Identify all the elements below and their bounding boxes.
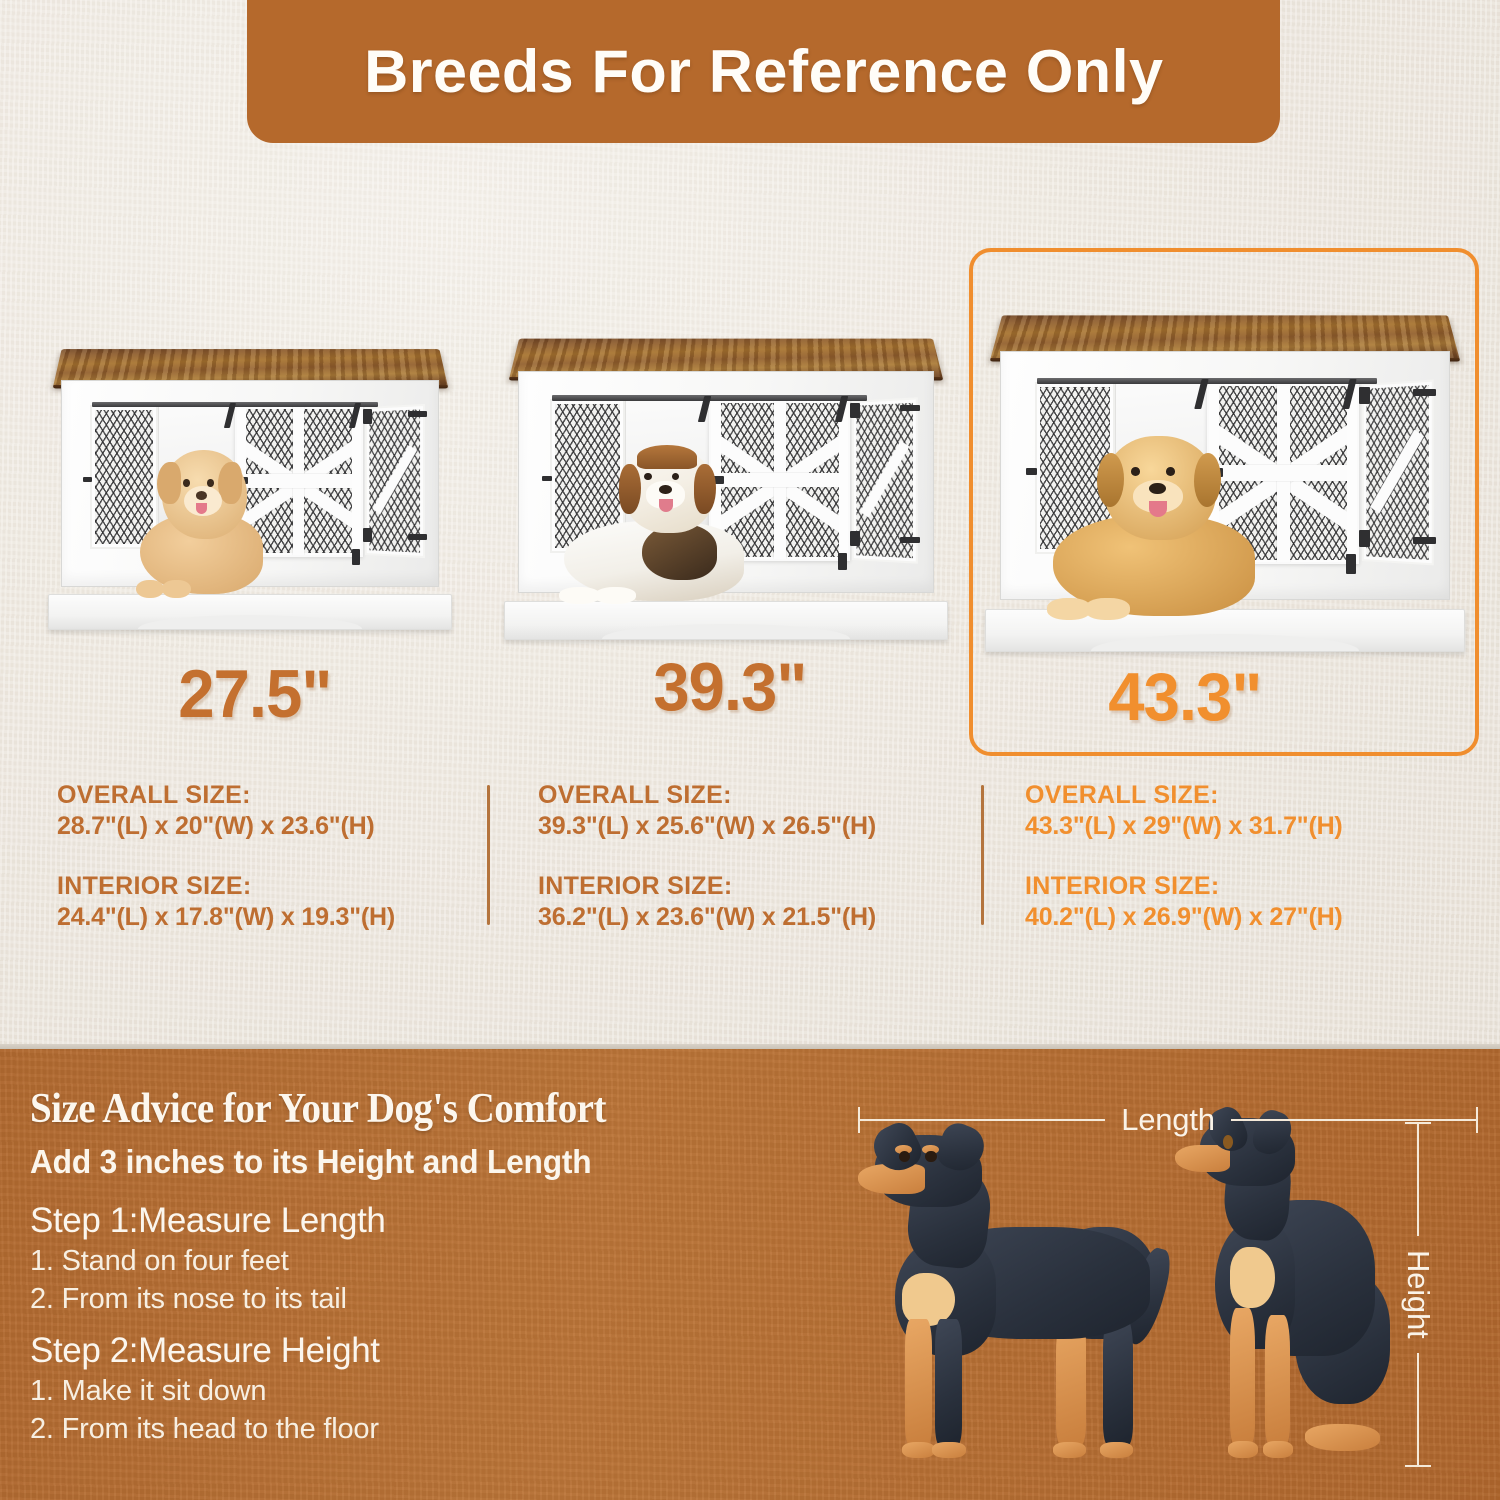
step-1-title: Step 1:Measure Length xyxy=(30,1200,385,1242)
step-2-title: Step 2:Measure Height xyxy=(30,1330,380,1372)
step-2-block: Step 2:Measure Height 1. Make it sit dow… xyxy=(30,1330,380,1449)
spec-divider xyxy=(487,785,490,925)
interior-size-heading: INTERIOR SIZE: xyxy=(57,871,487,902)
interior-size-value: 24.4"(L) x 17.8"(W) x 19.3"(H) xyxy=(57,902,487,933)
interior-size-heading: INTERIOR SIZE: xyxy=(538,871,968,902)
overall-size-value: 43.3"(L) x 29"(W) x 31.7"(H) xyxy=(1025,811,1455,842)
spec-divider xyxy=(981,785,984,925)
size-label-43-3: 43.3" xyxy=(1108,658,1261,736)
overall-size-heading: OVERALL SIZE: xyxy=(1025,780,1455,811)
hinge-icon xyxy=(1359,387,1370,404)
ruler-line xyxy=(1231,1119,1476,1121)
crate-base-plinth xyxy=(48,594,451,630)
overall-size-heading: OVERALL SIZE: xyxy=(538,780,968,811)
sitting-dog-illustration xyxy=(1165,1118,1415,1458)
header-banner: Breeds For Reference Only xyxy=(247,0,1280,143)
ruler-line xyxy=(860,1119,1105,1121)
standing-dog-illustration xyxy=(855,1128,1190,1458)
ruler-end-cap xyxy=(1476,1107,1478,1133)
overall-size-value: 39.3"(L) x 25.6"(W) x 26.5"(H) xyxy=(538,811,968,842)
height-label: Height xyxy=(1400,1236,1436,1352)
crate-mesh-panel-left xyxy=(90,405,158,549)
handle-icon xyxy=(408,534,427,539)
dog-photo-beagle xyxy=(606,447,745,602)
handle-icon xyxy=(83,477,92,482)
hinge-icon xyxy=(363,409,372,423)
size-label-39-3: 39.3" xyxy=(653,648,806,726)
step-1-line-1: 1. Stand on four feet xyxy=(30,1242,385,1280)
hinge-icon xyxy=(850,531,860,546)
step-2-line-1: 1. Make it sit down xyxy=(30,1372,380,1410)
advice-subtitle: Add 3 inches to its Height and Length xyxy=(30,1143,591,1181)
hinge-icon xyxy=(363,528,372,542)
overall-size-value: 28.7"(L) x 20"(W) x 23.6"(H) xyxy=(57,811,487,842)
ruler-line xyxy=(1417,1124,1419,1236)
handle-icon xyxy=(1413,537,1435,543)
handle-icon xyxy=(1413,389,1435,395)
spec-block-39-3: OVERALL SIZE: 39.3"(L) x 25.6"(W) x 26.5… xyxy=(538,780,968,932)
dog-photo-golden-retriever xyxy=(1085,436,1245,616)
handle-icon xyxy=(542,476,552,482)
handle-icon xyxy=(900,537,921,543)
ruler-end-cap xyxy=(1405,1465,1431,1467)
page-title: Breeds For Reference Only xyxy=(364,37,1163,106)
hinge-icon xyxy=(850,403,860,418)
door-bolt-icon xyxy=(352,549,360,565)
interior-size-heading: INTERIOR SIZE: xyxy=(1025,871,1455,902)
spec-block-27-5: OVERALL SIZE: 28.7"(L) x 20"(W) x 23.6"(… xyxy=(57,780,487,932)
length-label: Length xyxy=(1105,1102,1231,1138)
step-1-block: Step 1:Measure Length 1. Stand on four f… xyxy=(30,1200,385,1319)
step-2-line-2: 2. From its head to the floor xyxy=(30,1410,380,1448)
handle-icon xyxy=(408,411,427,416)
handle-icon xyxy=(1026,468,1037,474)
product-image-39-3 xyxy=(495,318,957,640)
interior-size-value: 36.2"(L) x 23.6"(W) x 21.5"(H) xyxy=(538,902,968,933)
product-image-43-3 xyxy=(975,292,1475,652)
door-bolt-icon xyxy=(1346,554,1356,574)
dog-photo-poodle xyxy=(153,450,262,594)
dog-eye-icon xyxy=(925,1151,936,1162)
crate-base-plinth xyxy=(504,601,948,640)
spec-block-43-3: OVERALL SIZE: 43.3"(L) x 29"(W) x 31.7"(… xyxy=(1025,780,1455,932)
step-1-line-2: 2. From its nose to its tail xyxy=(30,1280,385,1318)
product-image-27-5 xyxy=(40,330,460,630)
overall-size-heading: OVERALL SIZE: xyxy=(57,780,487,811)
ruler-line xyxy=(1417,1353,1419,1465)
handle-icon xyxy=(900,405,921,411)
length-dimension-ruler: Length xyxy=(858,1100,1478,1140)
size-label-27-5: 27.5" xyxy=(178,655,331,733)
section-divider xyxy=(0,1044,1500,1049)
height-dimension-ruler: Height xyxy=(1398,1122,1438,1467)
hinge-icon xyxy=(1359,530,1370,547)
door-bolt-icon xyxy=(838,553,847,571)
interior-size-value: 40.2"(L) x 26.9"(W) x 27"(H) xyxy=(1025,902,1455,933)
advice-title: Size Advice for Your Dog's Comfort xyxy=(30,1085,606,1133)
